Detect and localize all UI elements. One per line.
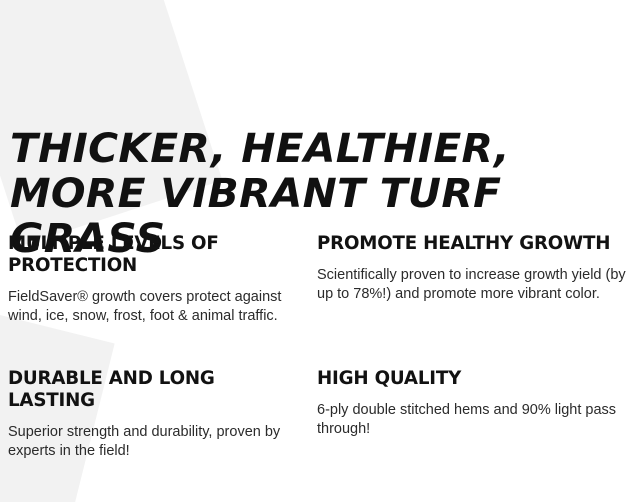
feature-column-left-2: Durable and Long Lasting Superior streng…: [8, 368, 317, 494]
feature-block-growth: Promote Healthy Growth Scientifically pr…: [317, 233, 626, 303]
feature-body: 6-ply double stitched hems and 90% light…: [317, 401, 626, 438]
feature-body: FieldSaver® growth covers protect agains…: [8, 288, 285, 325]
feature-title: Multiple Levels of Protection: [8, 233, 281, 277]
feature-column-right: Promote Healthy Growth Scientifically pr…: [317, 233, 626, 359]
feature-grid: Multiple Levels of Protection FieldSaver…: [8, 233, 626, 494]
feature-block-durability: Durable and Long Lasting Superior streng…: [8, 368, 285, 460]
feature-title: Durable and Long Lasting: [8, 368, 281, 412]
feature-body: Scientifically proven to increase growth…: [317, 266, 626, 303]
feature-column-left: Multiple Levels of Protection FieldSaver…: [8, 233, 317, 359]
feature-title: High Quality: [317, 368, 621, 390]
marketing-page: Thicker, Healthier, More Vibrant Turf Gr…: [0, 0, 634, 502]
feature-title: Promote Healthy Growth: [317, 233, 621, 255]
feature-body: Superior strength and durability, proven…: [8, 423, 285, 460]
feature-column-right-2: High Quality 6-ply double stitched hems …: [317, 368, 626, 494]
feature-block-quality: High Quality 6-ply double stitched hems …: [317, 368, 626, 438]
feature-block-protection: Multiple Levels of Protection FieldSaver…: [8, 233, 285, 325]
